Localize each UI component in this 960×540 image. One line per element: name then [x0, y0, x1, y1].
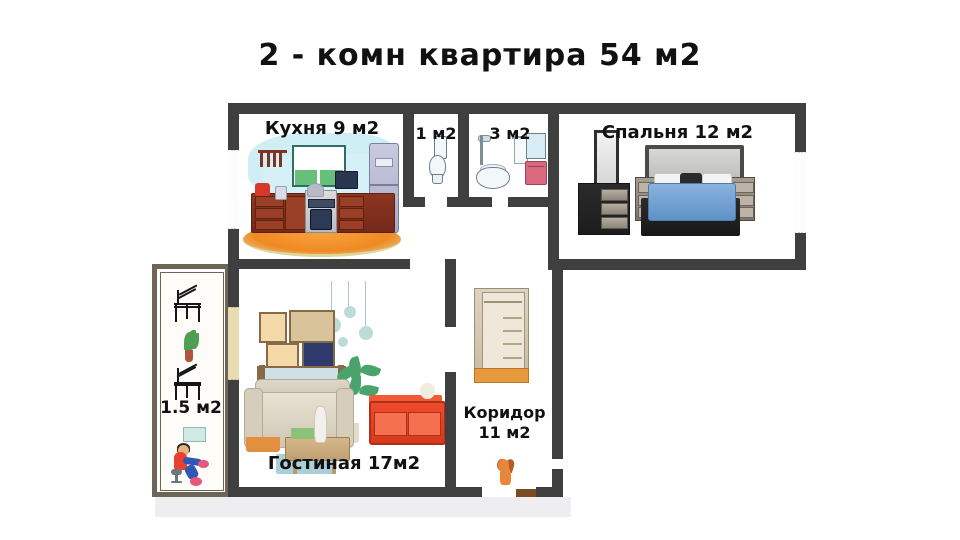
wall-kitchen-bottom: [228, 259, 410, 269]
toilet-base-icon: [432, 174, 443, 184]
kitchen-drawer: [339, 220, 365, 231]
balcony-door[interactable]: [228, 301, 239, 386]
kitchen-cabinet-door: [285, 196, 305, 231]
window-kitchen-left: [228, 143, 239, 236]
kitchen-drawer: [339, 208, 365, 219]
footer-bar: [155, 497, 571, 517]
room-corridor[interactable]: [457, 268, 552, 490]
wall-bathroom-bottom-left: [458, 197, 492, 207]
wall-picture-2: [289, 310, 335, 343]
kitchen-drawer: [255, 220, 284, 231]
wall-exterior-right-upper: [795, 103, 806, 145]
decor-string: [348, 281, 349, 305]
page-title: 2 - комн квартира 54 м2: [0, 38, 960, 73]
wall-livingroom-left-upper: [228, 259, 239, 301]
balcony-chair-bottom-icon: [171, 366, 207, 402]
wall-livingroom-corridor-upper: [445, 259, 456, 327]
room-label-corridor-line2: 11 м2: [457, 423, 552, 442]
wall-livingroom-left-lower: [228, 386, 239, 497]
balcony-plant-icon: [181, 332, 198, 362]
wall-livingroom-corridor-lower: [445, 372, 456, 497]
wall-corridor-right: [552, 259, 563, 459]
kitchen-drawer: [339, 196, 365, 207]
balcony-person-icon: [165, 427, 216, 485]
wall-picture-1: [259, 312, 286, 343]
room-label-corridor-line1: Коридор: [457, 403, 552, 422]
decor-ball: [344, 306, 356, 318]
room-label-wc: 1 м2: [411, 124, 461, 143]
bedroom-dresser-icon: [578, 183, 630, 235]
tv-stand-icon: [369, 401, 445, 445]
sink-cabinet-icon: [525, 161, 547, 186]
wall-bedroom-bottom: [548, 259, 806, 270]
wall-exterior-top: [228, 103, 806, 114]
kitchen-jar: [275, 186, 287, 200]
decor-ball: [338, 337, 348, 347]
kitchen-hanging-utensils-icon: [258, 150, 287, 169]
wall-wc-bathroom: [458, 103, 469, 207]
window-bedroom-right: [795, 145, 806, 240]
wardrobe-shelf: [503, 317, 522, 319]
room-label-bathroom: 3 м2: [469, 124, 551, 143]
room-label-kitchen: Кухня 9 м2: [238, 118, 406, 139]
tv-stand-decor: [420, 383, 435, 399]
wardrobe-rod: [484, 301, 522, 303]
hall-open-area: [560, 268, 775, 490]
kitchen-pot-lid: [307, 183, 324, 197]
dog-icon: [495, 459, 516, 488]
kitchen-hob: [308, 199, 335, 208]
wall-kitchen-wc: [403, 103, 414, 207]
floor-plan-page: 2 - комн квартира 54 м2: [0, 0, 960, 540]
kitchen-oven-icon: [310, 209, 332, 230]
room-label-livingroom: Гостиная 17м2: [238, 453, 450, 474]
coffee-table-vase: [314, 406, 327, 444]
bathtub-icon: [476, 167, 511, 190]
kitchen-microwave-icon: [335, 171, 357, 189]
balcony-chair-top-icon: [171, 287, 207, 323]
wall-exterior-left-upper: [228, 103, 239, 143]
wardrobe-shelf: [503, 343, 522, 345]
sofa-base: [246, 437, 280, 453]
decor-ball: [359, 326, 373, 340]
room-label-balcony: 1.5 м2: [152, 398, 230, 418]
wardrobe-base: [474, 368, 529, 383]
decor-string: [365, 281, 366, 325]
kitchen-kettle-icon: [255, 183, 270, 196]
wall-wc-bottom: [403, 197, 425, 207]
wardrobe-shelf: [503, 357, 522, 359]
coffee-table-books: [291, 428, 314, 439]
kitchen-drawer: [255, 208, 284, 219]
wall-bathroom-bedroom: [548, 103, 559, 207]
room-balcony[interactable]: [162, 274, 220, 487]
room-label-bedroom: Спальня 12 м2: [570, 122, 785, 143]
bed-mattress-icon: [648, 183, 736, 221]
wardrobe-shelf: [503, 330, 522, 332]
